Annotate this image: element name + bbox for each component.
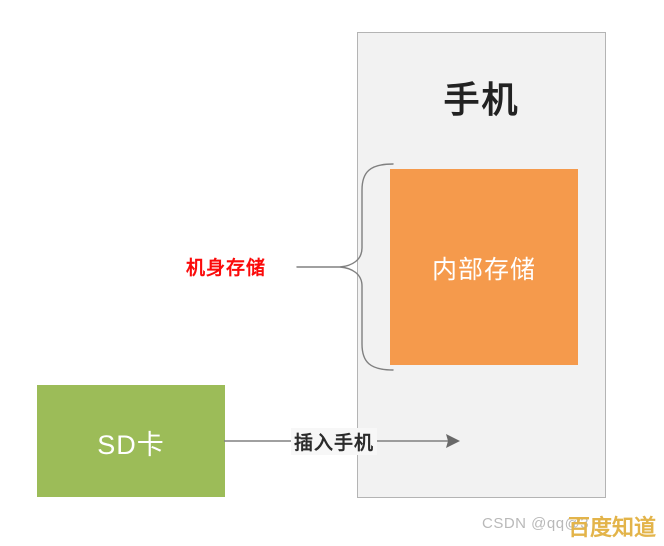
sd-card-label: SD卡 <box>37 423 225 462</box>
curly-brace-icon <box>290 160 400 375</box>
insert-arrow-label: 插入手机 <box>291 428 377 455</box>
diagram-canvas: 手机 内部存储 机身存储 SD卡 插入手机 CSDN @qq@3 百度知道 <box>0 0 664 546</box>
internal-storage-label: 内部存储 <box>390 250 578 286</box>
phone-label: 手机 <box>357 78 606 121</box>
body-storage-label: 机身存储 <box>186 253 266 280</box>
baidu-watermark: 百度知道 <box>568 510 656 542</box>
